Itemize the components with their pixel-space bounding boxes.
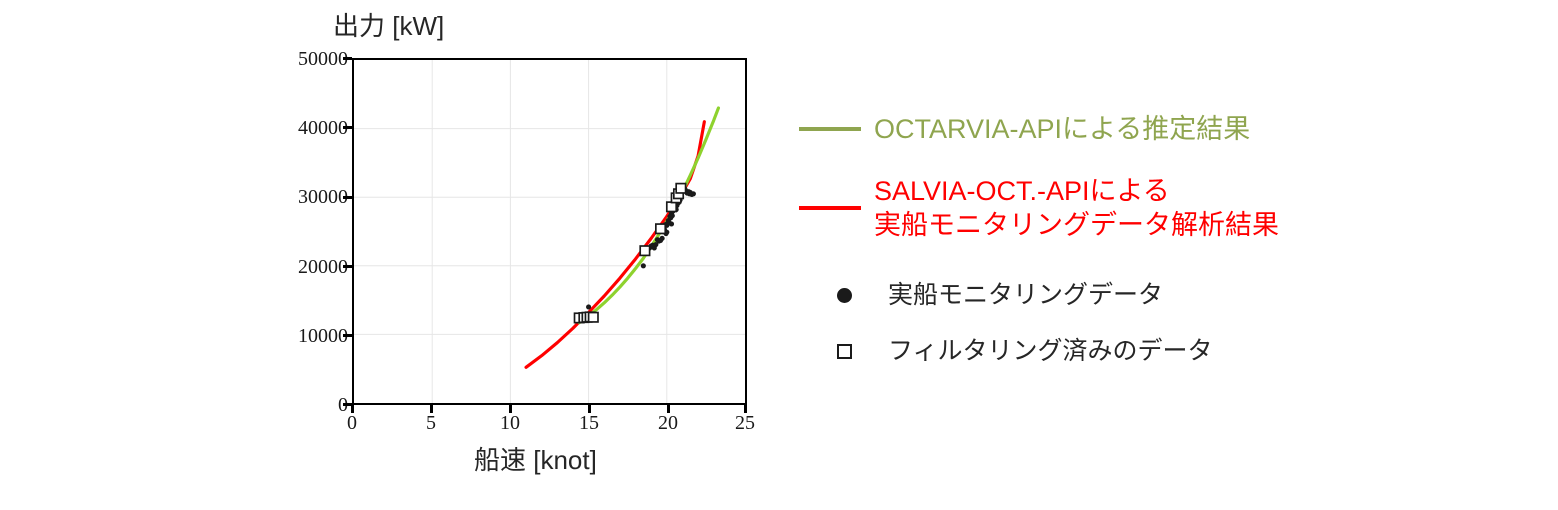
x-tick-label-25: 25: [710, 412, 780, 435]
y-tick-label-20000: 20000: [258, 256, 348, 279]
filled-circle-icon: [810, 288, 878, 303]
legend-item-monitoring[interactable]: 実船モニタリングデータ: [810, 278, 1163, 312]
gridlines: [354, 60, 745, 403]
x-tick-label-0: 0: [317, 412, 387, 435]
y-tick-mark-10000: [343, 334, 352, 337]
x-tick-label-5: 5: [396, 412, 466, 435]
y-tick-mark-50000: [343, 57, 352, 60]
x-tick-label-10: 10: [475, 412, 545, 435]
legend-item-estimate[interactable]: OCTARVIA-APIによる推定結果: [796, 112, 1250, 146]
y-tick-label-10000: 10000: [258, 325, 348, 348]
x-tick-label-15: 15: [554, 412, 624, 435]
x-tick-label-20: 20: [633, 412, 703, 435]
y-tick-mark-40000: [343, 126, 352, 129]
x-axis-title: 船速 [knot]: [474, 440, 597, 477]
plot-canvas: [354, 60, 745, 403]
legend-line-icon-estimate: [796, 127, 864, 132]
series-lines: [526, 108, 718, 367]
y-tick-mark-30000: [343, 196, 352, 199]
open-square-icon: [810, 344, 878, 359]
legend-item-filtered[interactable]: フィルタリング済みのデータ: [810, 334, 1213, 368]
y-axis-title: 出力 [kW]: [333, 6, 444, 43]
y-tick-label-50000: 50000: [258, 48, 348, 71]
y-tick-label-40000: 40000: [258, 117, 348, 140]
legend-label-analysis: SALVIA-OCT.-APIによる 実船モニタリングデータ解析結果: [874, 174, 1279, 242]
y-tick-mark-20000: [343, 265, 352, 268]
chart-figure: 出力 [kW] 船速 [knot] 50000 40000 30000 2000…: [0, 0, 1558, 510]
legend-label-filtered: フィルタリング済みのデータ: [888, 334, 1213, 368]
plot-area: [352, 58, 747, 405]
legend-item-analysis[interactable]: SALVIA-OCT.-APIによる 実船モニタリングデータ解析結果: [796, 174, 1279, 242]
legend-label-estimate: OCTARVIA-APIによる推定結果: [874, 112, 1250, 146]
series-markers: [575, 184, 696, 323]
y-tick-label-30000: 30000: [258, 186, 348, 209]
legend-line-icon-analysis: [796, 206, 864, 211]
legend-label-monitoring: 実船モニタリングデータ: [888, 278, 1163, 312]
